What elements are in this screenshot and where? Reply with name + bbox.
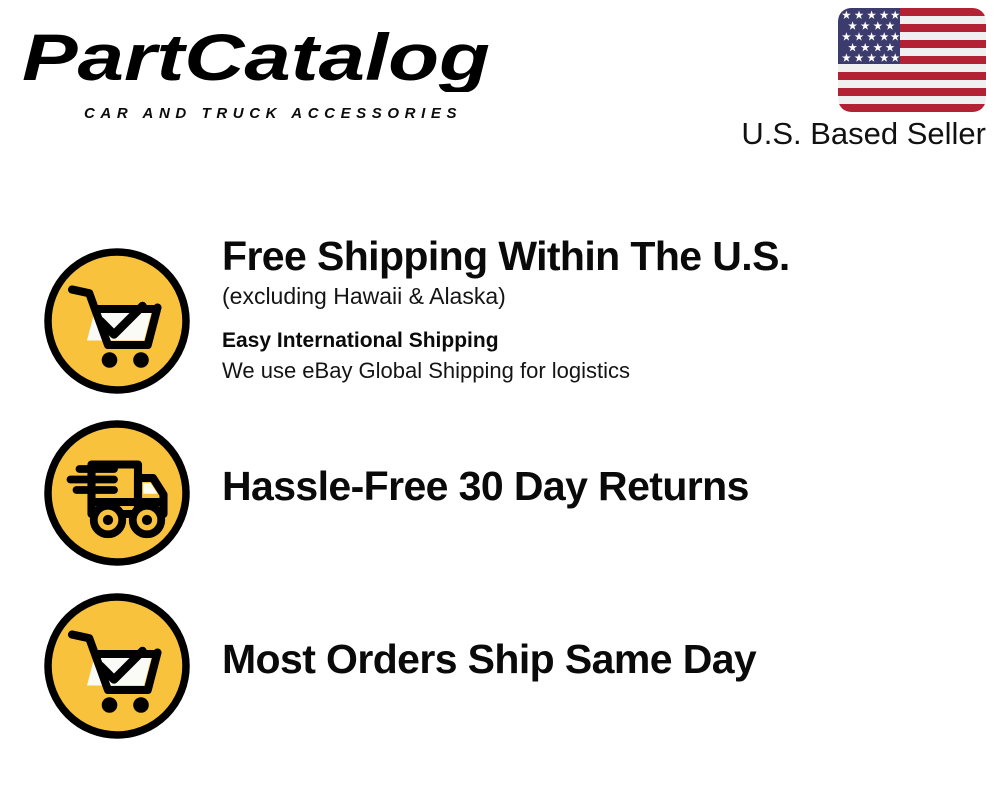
feature-secondary-title: Easy International Shipping — [222, 328, 982, 354]
shopping-cart-check-icon — [42, 246, 192, 396]
us-flag-icon — [838, 8, 986, 112]
us-based-seller-label: U.S. Based Seller — [716, 118, 986, 151]
partcatalog-wordmark-icon: PartCatalog — [22, 24, 492, 92]
brand-logo[interactable]: PartCatalog CAR AND TRUCK ACCESSORIES — [22, 24, 492, 114]
brand-tagline: CAR AND TRUCK ACCESSORIES — [84, 106, 464, 121]
feature-title: Most Orders Ship Same Day — [222, 637, 982, 681]
feature-title: Free Shipping Within The U.S. — [222, 234, 982, 278]
feature-text-same-day: Most Orders Ship Same Day — [222, 637, 982, 681]
feature-row-free-shipping: Free Shipping Within The U.S. (excluding… — [0, 228, 1000, 408]
feature-title: Hassle-Free 30 Day Returns — [222, 464, 982, 508]
shipping-info-banner: PartCatalog CAR AND TRUCK ACCESSORIES — [0, 0, 1000, 800]
feature-text-returns: Hassle-Free 30 Day Returns — [222, 464, 982, 508]
feature-secondary-subtitle: We use eBay Global Shipping for logistic… — [222, 357, 982, 386]
svg-text:PartCatalog: PartCatalog — [22, 24, 490, 92]
feature-subtitle: (excluding Hawaii & Alaska) — [222, 282, 982, 312]
us-based-seller-badge: U.S. Based Seller — [716, 8, 986, 151]
delivery-truck-icon — [42, 418, 192, 568]
shopping-cart-check-icon — [42, 591, 192, 741]
feature-row-same-day: Most Orders Ship Same Day — [0, 591, 1000, 751]
feature-row-returns: Hassle-Free 30 Day Returns — [0, 418, 1000, 578]
feature-text-free-shipping: Free Shipping Within The U.S. (excluding… — [222, 234, 982, 386]
